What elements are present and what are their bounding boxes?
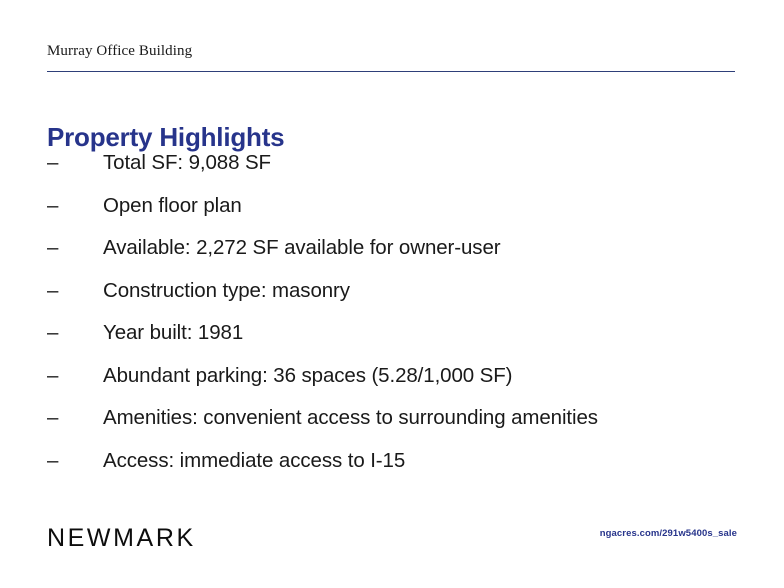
footer-listing-url[interactable]: ngacres.com/291w5400s_sale (600, 528, 737, 539)
bullet-dash-icon: – (47, 276, 87, 306)
list-item-label: Total SF: 9,088 SF (103, 148, 271, 178)
list-item-label: Construction type: masonry (103, 276, 350, 306)
slide-header-property-name: Murray Office Building (47, 43, 192, 60)
bullet-dash-icon: – (47, 191, 87, 221)
header-divider-rule (47, 71, 735, 72)
list-item-label: Amenities: convenient access to surround… (103, 403, 598, 433)
bullet-dash-icon: – (47, 403, 87, 433)
list-item: – Construction type: masonry (47, 276, 747, 319)
list-item: – Amenities: convenient access to surrou… (47, 403, 747, 446)
property-highlights-list: – Total SF: 9,088 SF – Open floor plan –… (47, 148, 747, 488)
list-item-label: Access: immediate access to I-15 (103, 446, 405, 476)
bullet-dash-icon: – (47, 318, 87, 348)
list-item-label: Abundant parking: 36 spaces (5.28/1,000 … (103, 361, 512, 391)
slide-canvas: Murray Office Building Property Highligh… (0, 0, 784, 588)
list-item: – Total SF: 9,088 SF (47, 148, 747, 191)
bullet-dash-icon: – (47, 446, 87, 476)
list-item: – Available: 2,272 SF available for owne… (47, 233, 747, 276)
list-item-label: Year built: 1981 (103, 318, 243, 348)
list-item: – Abundant parking: 36 spaces (5.28/1,00… (47, 361, 747, 404)
list-item: – Open floor plan (47, 191, 747, 234)
newmark-logo: NEWMARK (47, 524, 196, 553)
list-item: – Year built: 1981 (47, 318, 747, 361)
list-item-label: Open floor plan (103, 191, 242, 221)
bullet-dash-icon: – (47, 233, 87, 263)
bullet-dash-icon: – (47, 361, 87, 391)
list-item: – Access: immediate access to I-15 (47, 446, 747, 489)
bullet-dash-icon: – (47, 148, 87, 178)
list-item-label: Available: 2,272 SF available for owner-… (103, 233, 500, 263)
